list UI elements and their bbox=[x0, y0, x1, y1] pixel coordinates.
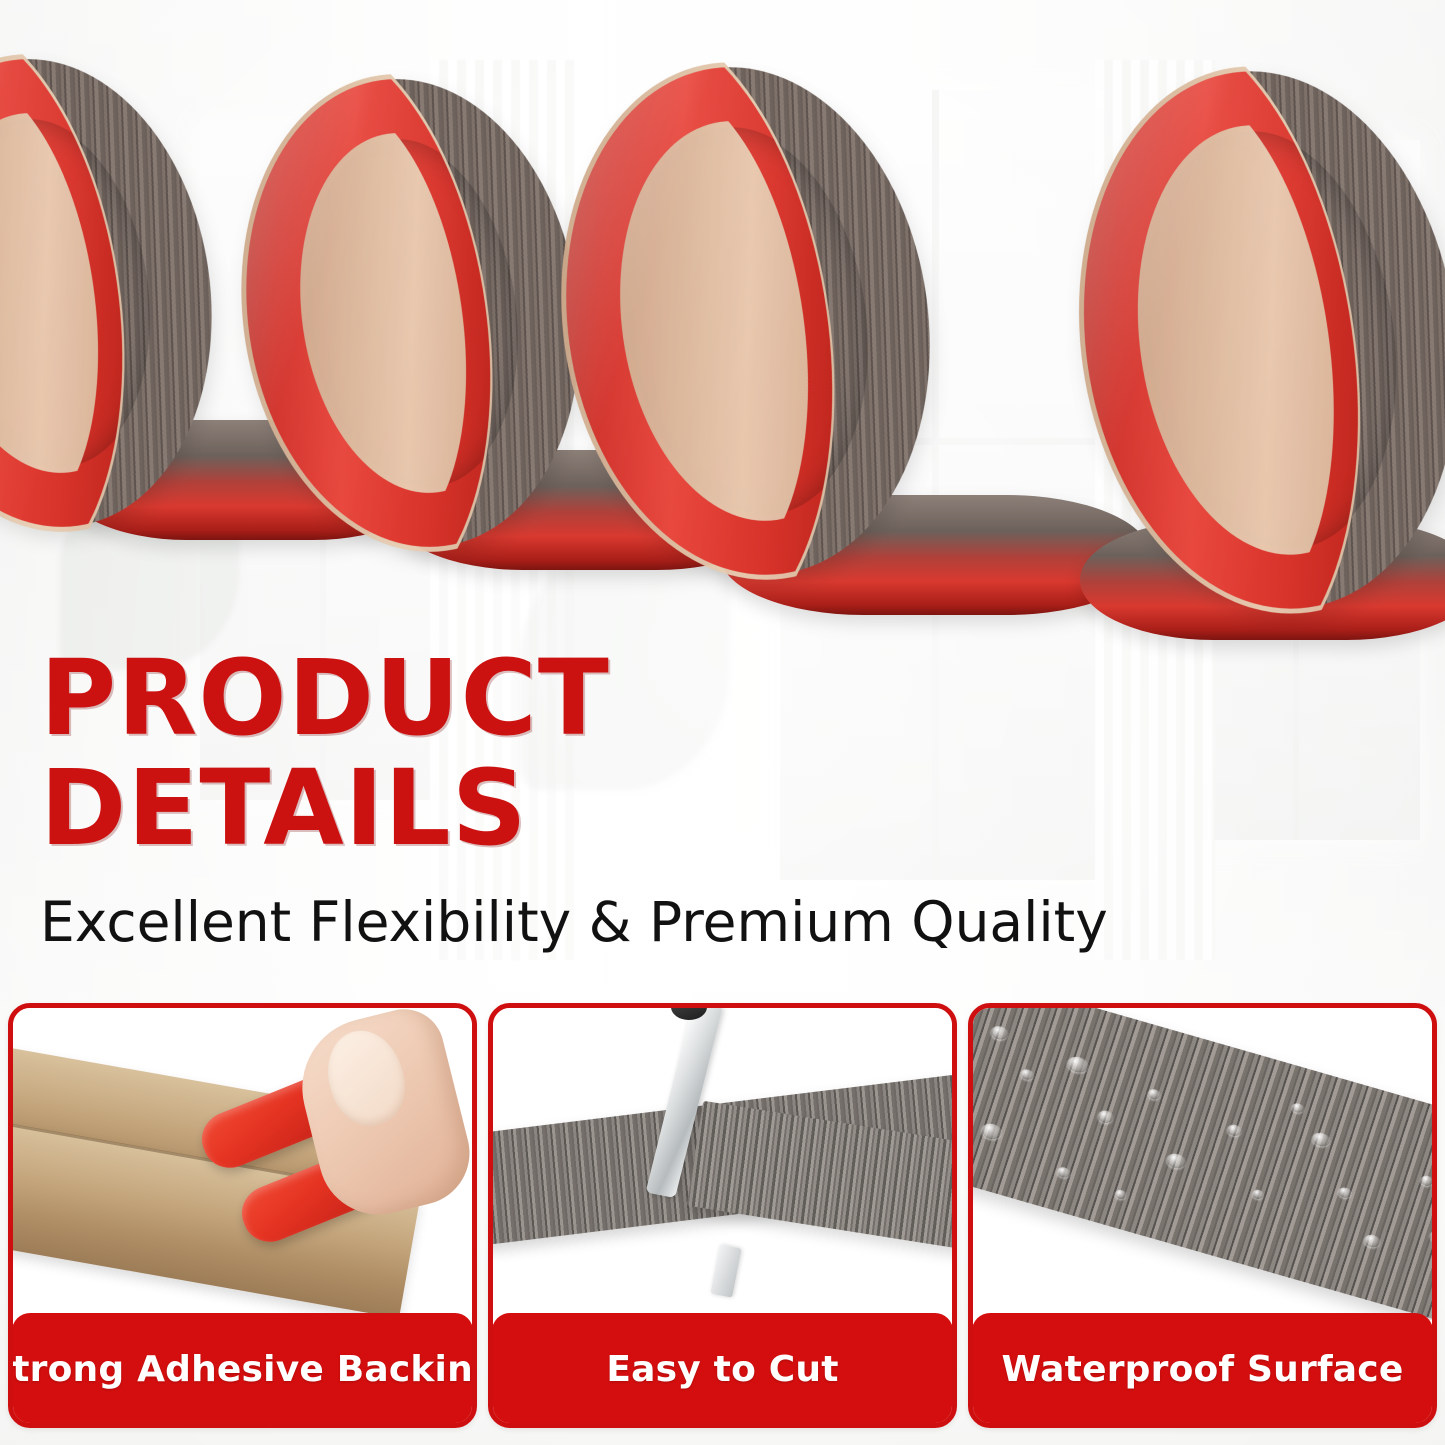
feature-card-waterproof: Waterproof Surface bbox=[968, 1003, 1437, 1428]
feature-card-adhesive: Strong Adhesive Backing bbox=[8, 1003, 477, 1428]
scissors-cutting-strip-photo bbox=[493, 1008, 952, 1320]
page-title-line-1: PRODUCT bbox=[40, 648, 1160, 750]
product-coil-2 bbox=[248, 78, 578, 548]
water-beading-surface-photo bbox=[973, 1008, 1432, 1320]
hand-peeling-adhesive-liner-photo bbox=[13, 1008, 472, 1320]
product-coil-4 bbox=[1086, 70, 1445, 610]
page-title-line-2: DETAILS bbox=[40, 758, 1160, 860]
feature-caption-adhesive: Strong Adhesive Backing bbox=[12, 1313, 473, 1425]
scissors-blade-lower bbox=[710, 1244, 741, 1297]
page-subtitle: Excellent Flexibility & Premium Quality bbox=[40, 894, 1160, 952]
feature-caption-waterproof: Waterproof Surface bbox=[972, 1313, 1433, 1425]
product-details-infographic: PRODUCT DETAILS Excellent Flexibility & … bbox=[0, 0, 1445, 1445]
feature-panel-row: Strong Adhesive Backing Easy to Cut bbox=[8, 1003, 1437, 1428]
feature-caption-cut: Easy to Cut bbox=[492, 1313, 953, 1425]
product-coil-3 bbox=[568, 66, 928, 576]
headline-block: PRODUCT DETAILS Excellent Flexibility & … bbox=[40, 648, 1160, 952]
hero-product-coils bbox=[0, 0, 1445, 690]
feature-card-cut: Easy to Cut bbox=[488, 1003, 957, 1428]
product-coil-1 bbox=[0, 58, 210, 528]
waterproof-strip bbox=[973, 1008, 1432, 1320]
